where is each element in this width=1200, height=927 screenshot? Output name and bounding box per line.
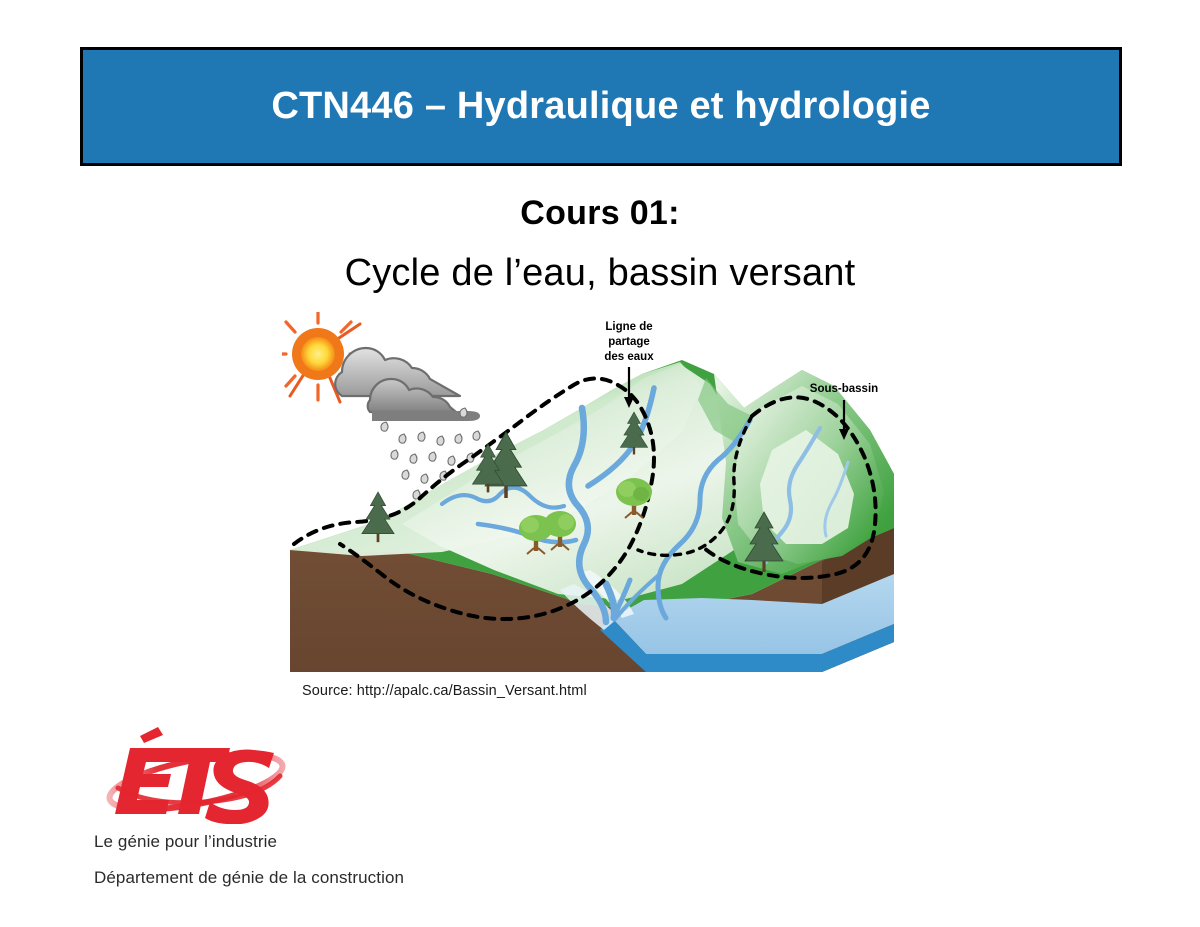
- watershed-diagram: Ligne de partage des eaux Sous-bassin: [282, 312, 902, 684]
- slide-title-text: CTN446 – Hydraulique et hydrologie: [271, 85, 930, 128]
- course-topic-label: Cycle de l’eau, bassin versant: [0, 244, 1200, 302]
- ets-logo: [96, 726, 296, 824]
- department-label: Département de génie de la construction: [94, 868, 404, 888]
- slide-title-banner: CTN446 – Hydraulique et hydrologie: [80, 47, 1122, 166]
- cloud-icon: [335, 348, 480, 421]
- figure-source-caption: Source: http://apalc.ca/Bassin_Versant.h…: [302, 683, 587, 699]
- ets-acute-accent: [140, 727, 163, 743]
- course-number-label: Cours 01:: [0, 190, 1200, 236]
- ets-lettering: [115, 748, 274, 824]
- annotation-ligne-line1: Ligne de: [605, 321, 652, 333]
- annotation-ligne-line2: partage: [608, 336, 650, 348]
- annotation-ligne-line3: des eaux: [604, 351, 654, 363]
- subtitle-block: Cours 01: Cycle de l’eau, bassin versant: [0, 190, 1200, 302]
- annotation-sousbassin-line1: Sous-bassin: [810, 383, 878, 395]
- ets-tagline: Le génie pour l’industrie: [94, 832, 277, 852]
